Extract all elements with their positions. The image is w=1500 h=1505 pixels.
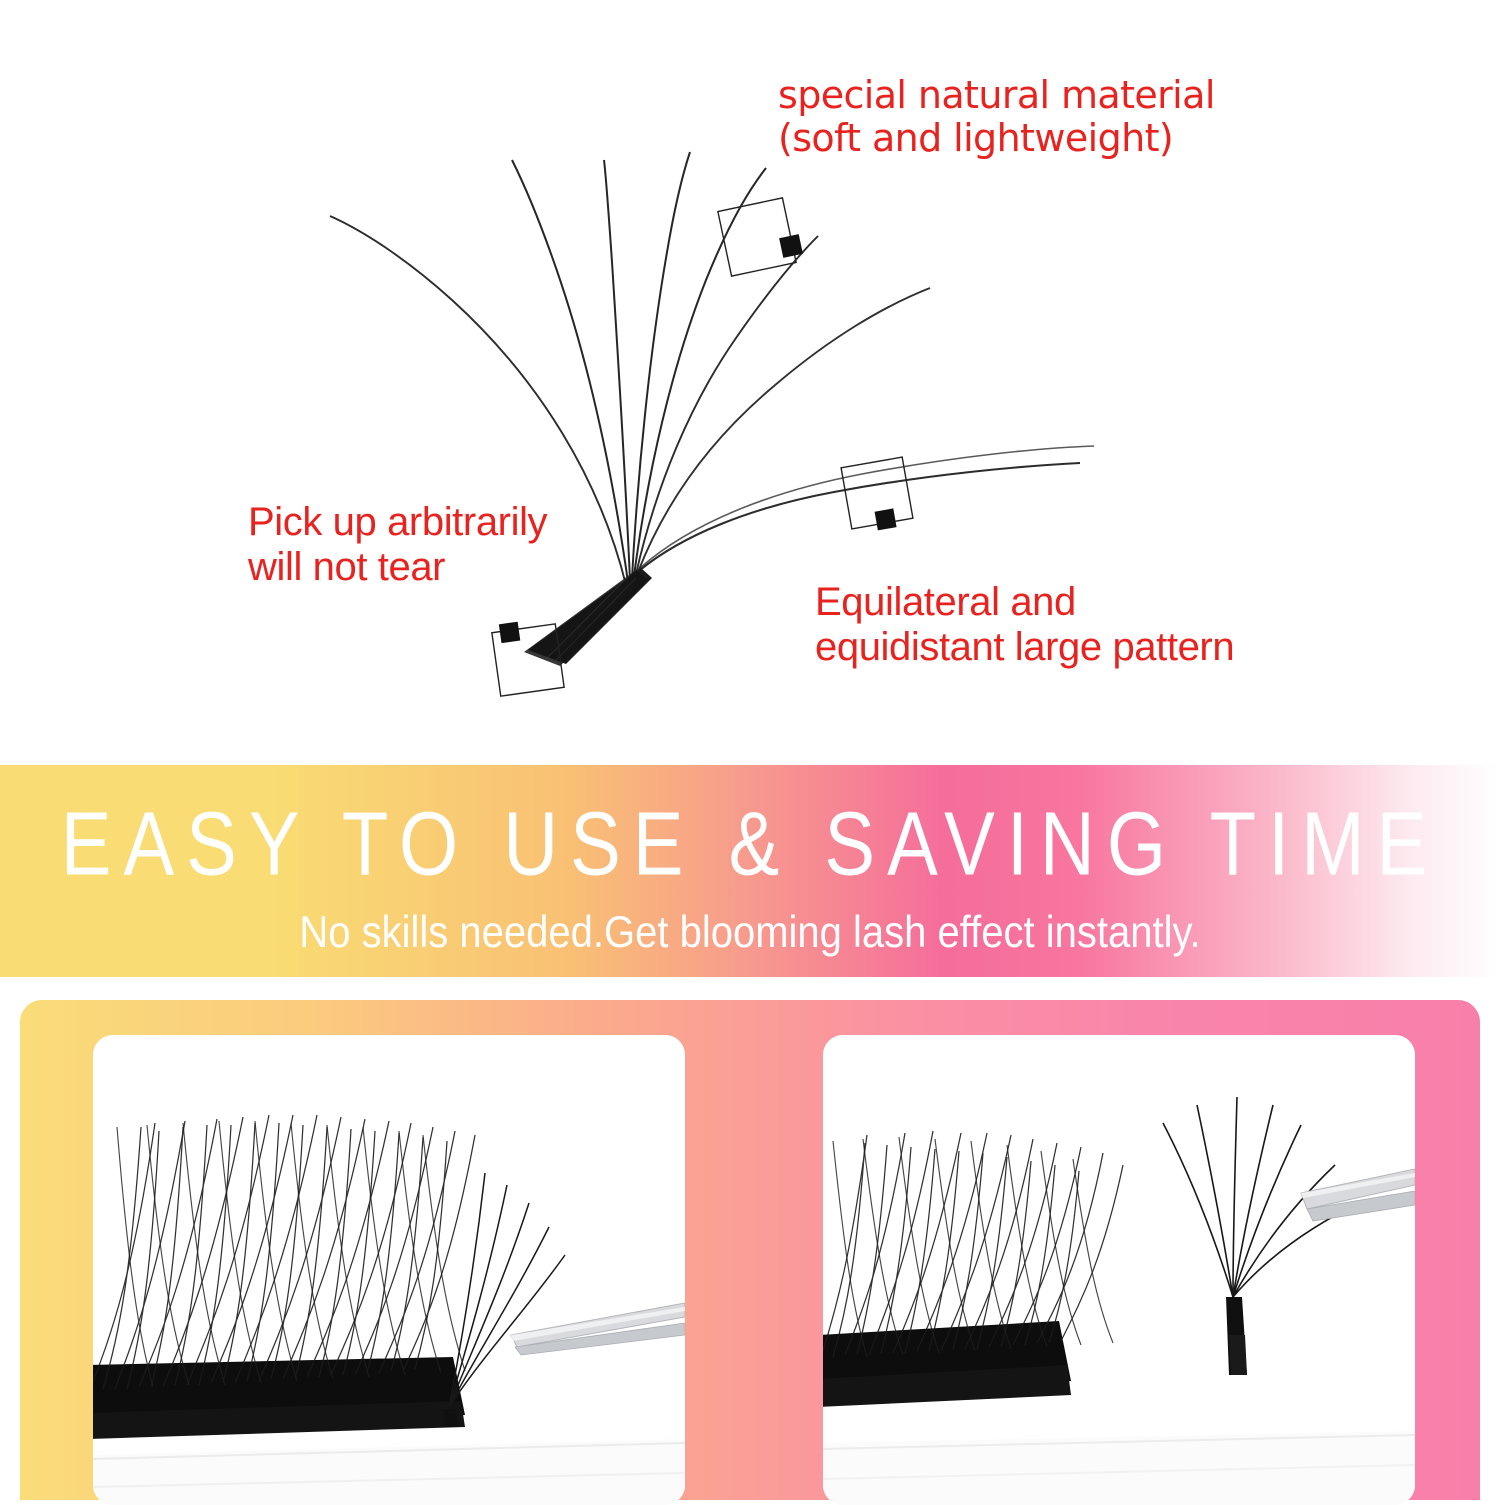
lash-tray-photo xyxy=(93,1035,685,1505)
caption-equilateral: Equilateral and equidistant large patter… xyxy=(815,580,1234,670)
caption-special-material: special natural material (soft and light… xyxy=(778,74,1215,159)
annotation-marker-mid-right[interactable] xyxy=(841,457,913,530)
annotation-marker-top-right[interactable] xyxy=(718,198,803,276)
photo-card-lash-fan-tweezers[interactable]: 12mm xyxy=(823,1035,1415,1505)
lash-fan-photo xyxy=(823,1035,1415,1505)
feature-banner: EASY TO USE & SAVING TIME No skills need… xyxy=(0,765,1500,977)
hero-section: special natural material (soft and light… xyxy=(0,0,1500,765)
caption-pick-up: Pick up arbitrarily will not tear xyxy=(248,500,547,590)
photo-card-lash-tray-tweezers[interactable]: 12mm xyxy=(93,1035,685,1505)
photo-gallery-frame: 12mm xyxy=(20,1000,1480,1500)
banner-subtitle: No skills needed.Get blooming lash effec… xyxy=(0,908,1500,958)
banner-title: EASY TO USE & SAVING TIME xyxy=(0,793,1500,896)
lash-fan-illustration xyxy=(0,0,1500,765)
